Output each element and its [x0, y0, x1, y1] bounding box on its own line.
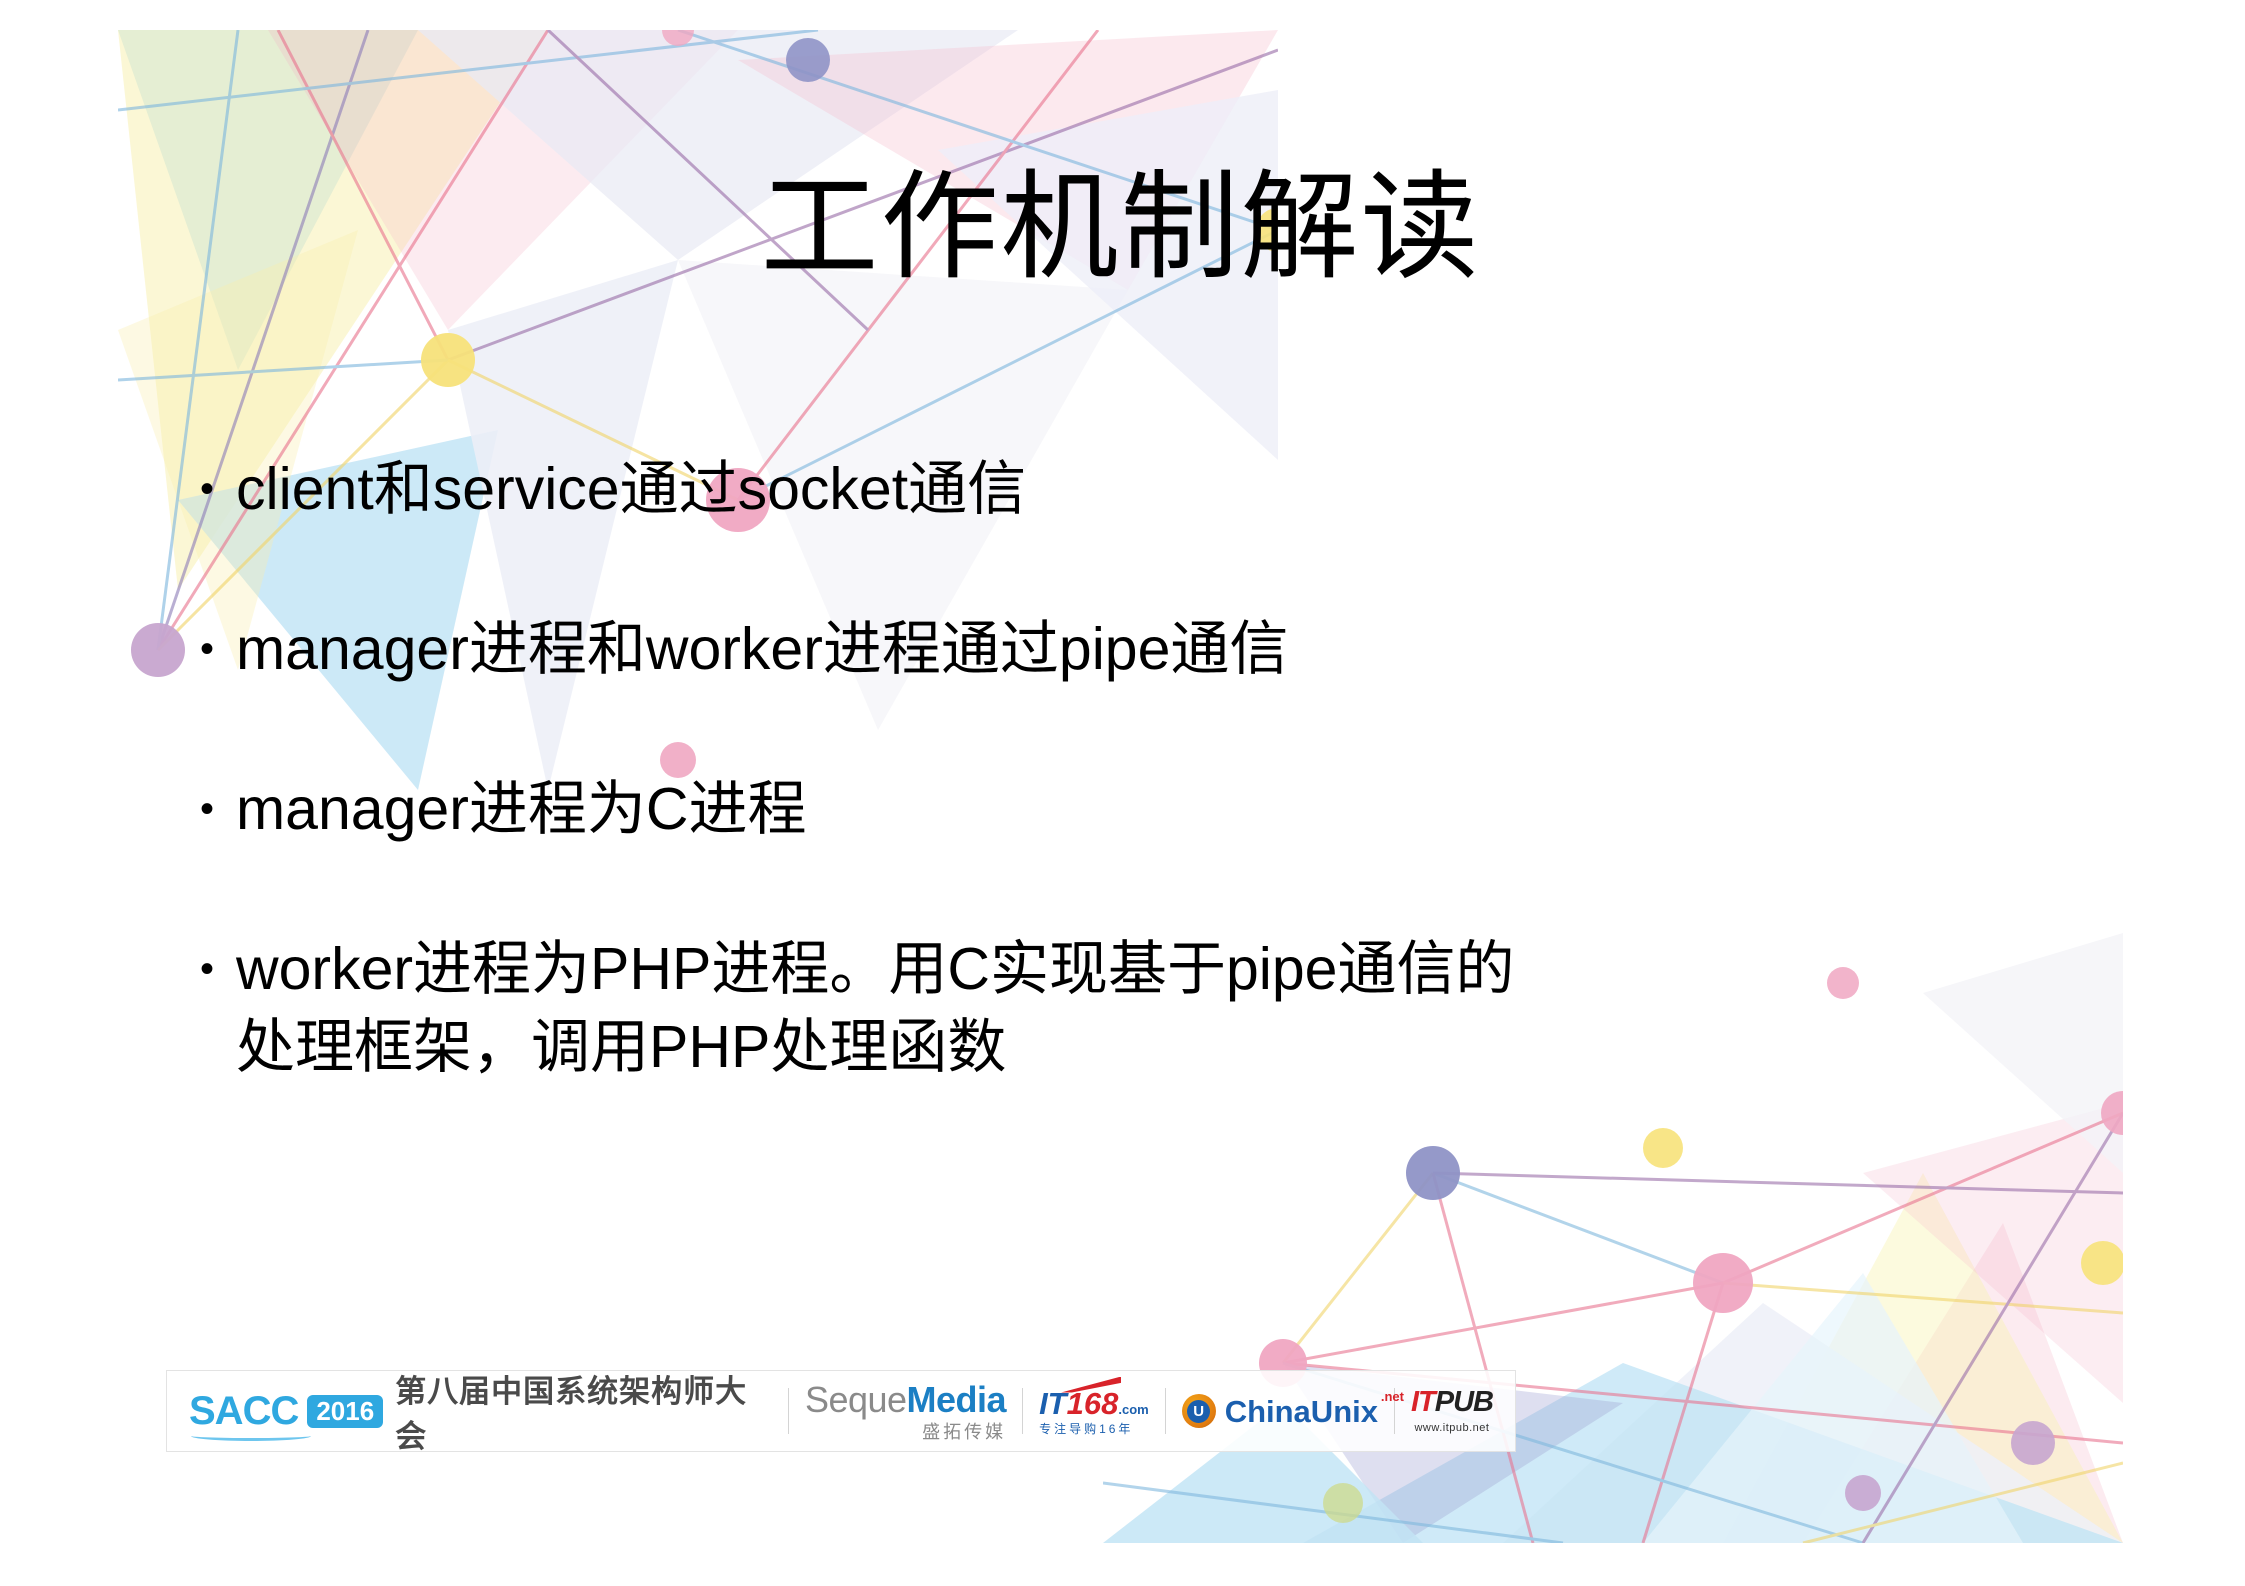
bullet-marker-icon: •	[178, 770, 236, 848]
deco-node	[1845, 1475, 1881, 1511]
deco-node	[786, 38, 830, 82]
deco-node	[2011, 1421, 2055, 1465]
deco-node	[2081, 1241, 2123, 1285]
deco-node	[131, 623, 185, 677]
sacc-subtitle: 第八届中国系统架构师大会	[395, 1366, 772, 1456]
it168-prefix: IT	[1039, 1386, 1067, 1421]
chinaunix-badge-letter: U	[1187, 1400, 1210, 1423]
sequemedia-part2: Media	[907, 1379, 1007, 1420]
sacc-year-badge: 2016	[307, 1395, 383, 1428]
bullet-list: • client和service通过socket通信 • manager进程和w…	[178, 450, 2078, 1086]
bullet-marker-icon: •	[178, 450, 236, 528]
chinaunix-wordmark: ChinaUnix.net	[1225, 1396, 1378, 1427]
chinaunix-tld: .net	[1381, 1390, 1404, 1403]
chinaunix-name: ChinaUnix	[1225, 1394, 1378, 1429]
chinaunix-badge-icon: U	[1182, 1394, 1216, 1428]
sacc-underline-swoosh	[191, 1431, 311, 1441]
bullet-text: worker进程为PHP进程。用C实现基于pipe通信的 处理框架，调用PHP处…	[236, 930, 2078, 1086]
deco-node	[1693, 1253, 1753, 1313]
sequemedia-chinese: 盛拓传媒	[805, 1423, 1006, 1441]
chinaunix-logo: U ChinaUnix.net	[1182, 1394, 1378, 1428]
bullet-marker-icon: •	[178, 610, 236, 688]
deco-node	[421, 333, 475, 387]
bullet-marker-icon: •	[178, 930, 236, 1008]
sequemedia-part1: Seque	[805, 1379, 907, 1420]
bullet-text: manager进程和worker进程通过pipe通信	[236, 610, 2078, 688]
footer-sponsor-bar: SACC 2016 第八届中国系统架构师大会 SequeMedia 盛拓传媒 I…	[166, 1370, 1516, 1452]
slide-title: 工作机制解读	[118, 165, 2123, 292]
sequemedia-logo: SequeMedia 盛拓传媒	[805, 1382, 1006, 1441]
logo-divider	[1165, 1388, 1166, 1434]
bullet-text: client和service通过socket通信	[236, 450, 2078, 528]
it168-tld: .com	[1118, 1402, 1148, 1417]
logo-divider	[1022, 1388, 1023, 1434]
it168-logo: IT168.com 专注导购16年	[1039, 1388, 1149, 1435]
sacc-logo: SACC 2016 第八届中国系统架构师大会	[189, 1366, 772, 1456]
logo-divider	[788, 1388, 789, 1434]
it168-tagline: 专注导购16年	[1039, 1423, 1149, 1435]
itpub-logo: ITPUB www.itpub.net	[1411, 1388, 1493, 1434]
deco-node	[1323, 1483, 1363, 1523]
sacc-wordmark: SACC	[189, 1391, 298, 1431]
list-item: • manager进程和worker进程通过pipe通信	[178, 610, 2078, 688]
slide-canvas: 工作机制解读 • client和service通过socket通信 • mana…	[118, 30, 2123, 1543]
it168-wordmark: IT168.com	[1039, 1388, 1149, 1419]
sacc-brand-text: SACC	[189, 1389, 298, 1433]
deco-node	[2101, 1091, 2123, 1135]
sequemedia-wordmark: SequeMedia	[805, 1382, 1006, 1418]
itpub-it: IT	[1411, 1386, 1435, 1418]
list-item: • manager进程为C进程	[178, 770, 2078, 848]
deco-node	[662, 30, 694, 46]
deco-node	[1643, 1128, 1683, 1168]
itpub-pub: PUB	[1435, 1386, 1493, 1418]
deco-node	[1406, 1146, 1460, 1200]
list-item: • client和service通过socket通信	[178, 450, 2078, 528]
itpub-wordmark: ITPUB	[1411, 1388, 1493, 1417]
itpub-url: www.itpub.net	[1411, 1423, 1493, 1434]
list-item: • worker进程为PHP进程。用C实现基于pipe通信的 处理框架，调用PH…	[178, 930, 2078, 1086]
bullet-text: manager进程为C进程	[236, 770, 2078, 848]
